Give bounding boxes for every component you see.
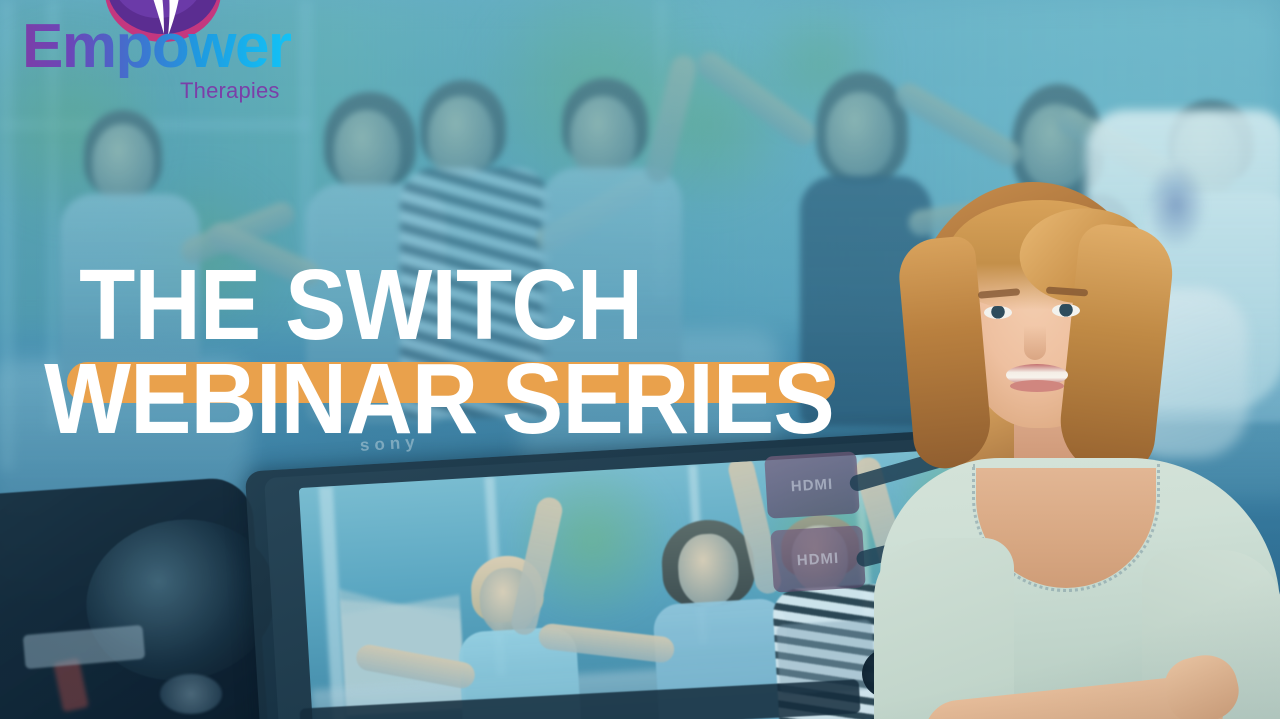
headline-block: THE SWITCH WEBINAR SERIES (0, 262, 900, 442)
camera-dial (160, 674, 222, 714)
portrait-eye (1052, 304, 1080, 317)
webinar-promo-banner: sony (0, 0, 1280, 719)
backdrop-shirt-graphic (1146, 162, 1206, 248)
portrait-nose (1024, 326, 1046, 360)
portrait-lower-lip (1010, 380, 1064, 392)
headline-line-2: WEBINAR SERIES (0, 356, 828, 442)
portrait-eye (984, 306, 1012, 319)
hdmi-port-label: HDMI (764, 451, 860, 518)
brand-subtitle: Therapies (180, 78, 280, 104)
brand-logo[interactable]: Empower Therapies (14, 0, 294, 112)
headline-line-1: THE SWITCH (0, 262, 828, 348)
hdmi-port-label: HDMI (770, 525, 866, 592)
brand-name: Empower (22, 16, 291, 78)
portrait-sleeve-left (874, 538, 1014, 719)
host-portrait (880, 168, 1280, 719)
